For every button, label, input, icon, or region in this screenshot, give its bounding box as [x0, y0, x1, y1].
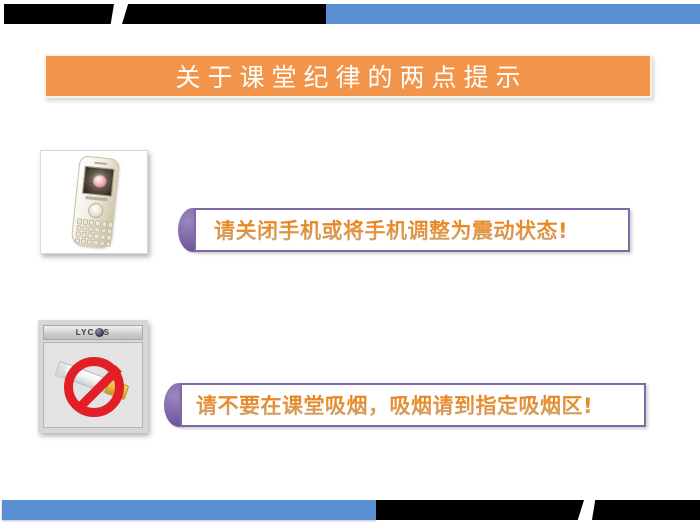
- message-box: 请关闭手机或将手机调整为震动状态!: [194, 208, 630, 252]
- bottom-decor-bar: [0, 500, 700, 520]
- slide-title-banner: 关于课堂纪律的两点提示: [44, 54, 652, 98]
- eye-icon: [95, 328, 104, 337]
- message-row-phone: 请关闭手机或将手机调整为震动状态!: [178, 208, 630, 252]
- phone-screen: [82, 166, 115, 197]
- no-smoking-icon: [43, 342, 143, 428]
- photo-window-titlebar: LYCS: [43, 325, 143, 340]
- no-smoking-photo: LYCS: [38, 320, 148, 433]
- bottom-bar-black-segment-middle: [376, 500, 584, 520]
- lycos-logo: LYCS: [76, 328, 110, 337]
- lycos-logo-text: LYC: [76, 328, 95, 337]
- phone-body: [71, 155, 120, 249]
- phone-earpiece: [94, 162, 107, 165]
- top-bar-black-segment-left: [4, 4, 114, 24]
- phone-keypad: [75, 218, 113, 247]
- message-text-smoking: 请不要在课堂吸烟，吸烟请到指定吸烟区!: [196, 390, 593, 420]
- phone-brand-strip: [85, 196, 107, 201]
- phone-navigation-pad: [88, 202, 104, 218]
- mobile-phone-photo: [40, 150, 148, 254]
- bottom-bar-blue-segment: [2, 500, 376, 520]
- mobile-phone-icon: [67, 155, 122, 252]
- phone-wallpaper: [93, 175, 107, 188]
- top-bar-black-segment-middle: [122, 4, 326, 24]
- top-bar-blue-segment: [326, 4, 700, 24]
- lycos-logo-text-tail: S: [104, 328, 111, 337]
- top-decor-bar: [0, 4, 700, 24]
- page-title: 关于课堂纪律的两点提示: [168, 58, 527, 94]
- message-box: 请不要在课堂吸烟，吸烟请到指定吸烟区!: [180, 383, 646, 427]
- message-row-smoking: 请不要在课堂吸烟，吸烟请到指定吸烟区!: [164, 383, 646, 427]
- message-text-phone: 请关闭手机或将手机调整为震动状态!: [214, 215, 568, 245]
- bottom-bar-black-segment-right: [592, 500, 700, 520]
